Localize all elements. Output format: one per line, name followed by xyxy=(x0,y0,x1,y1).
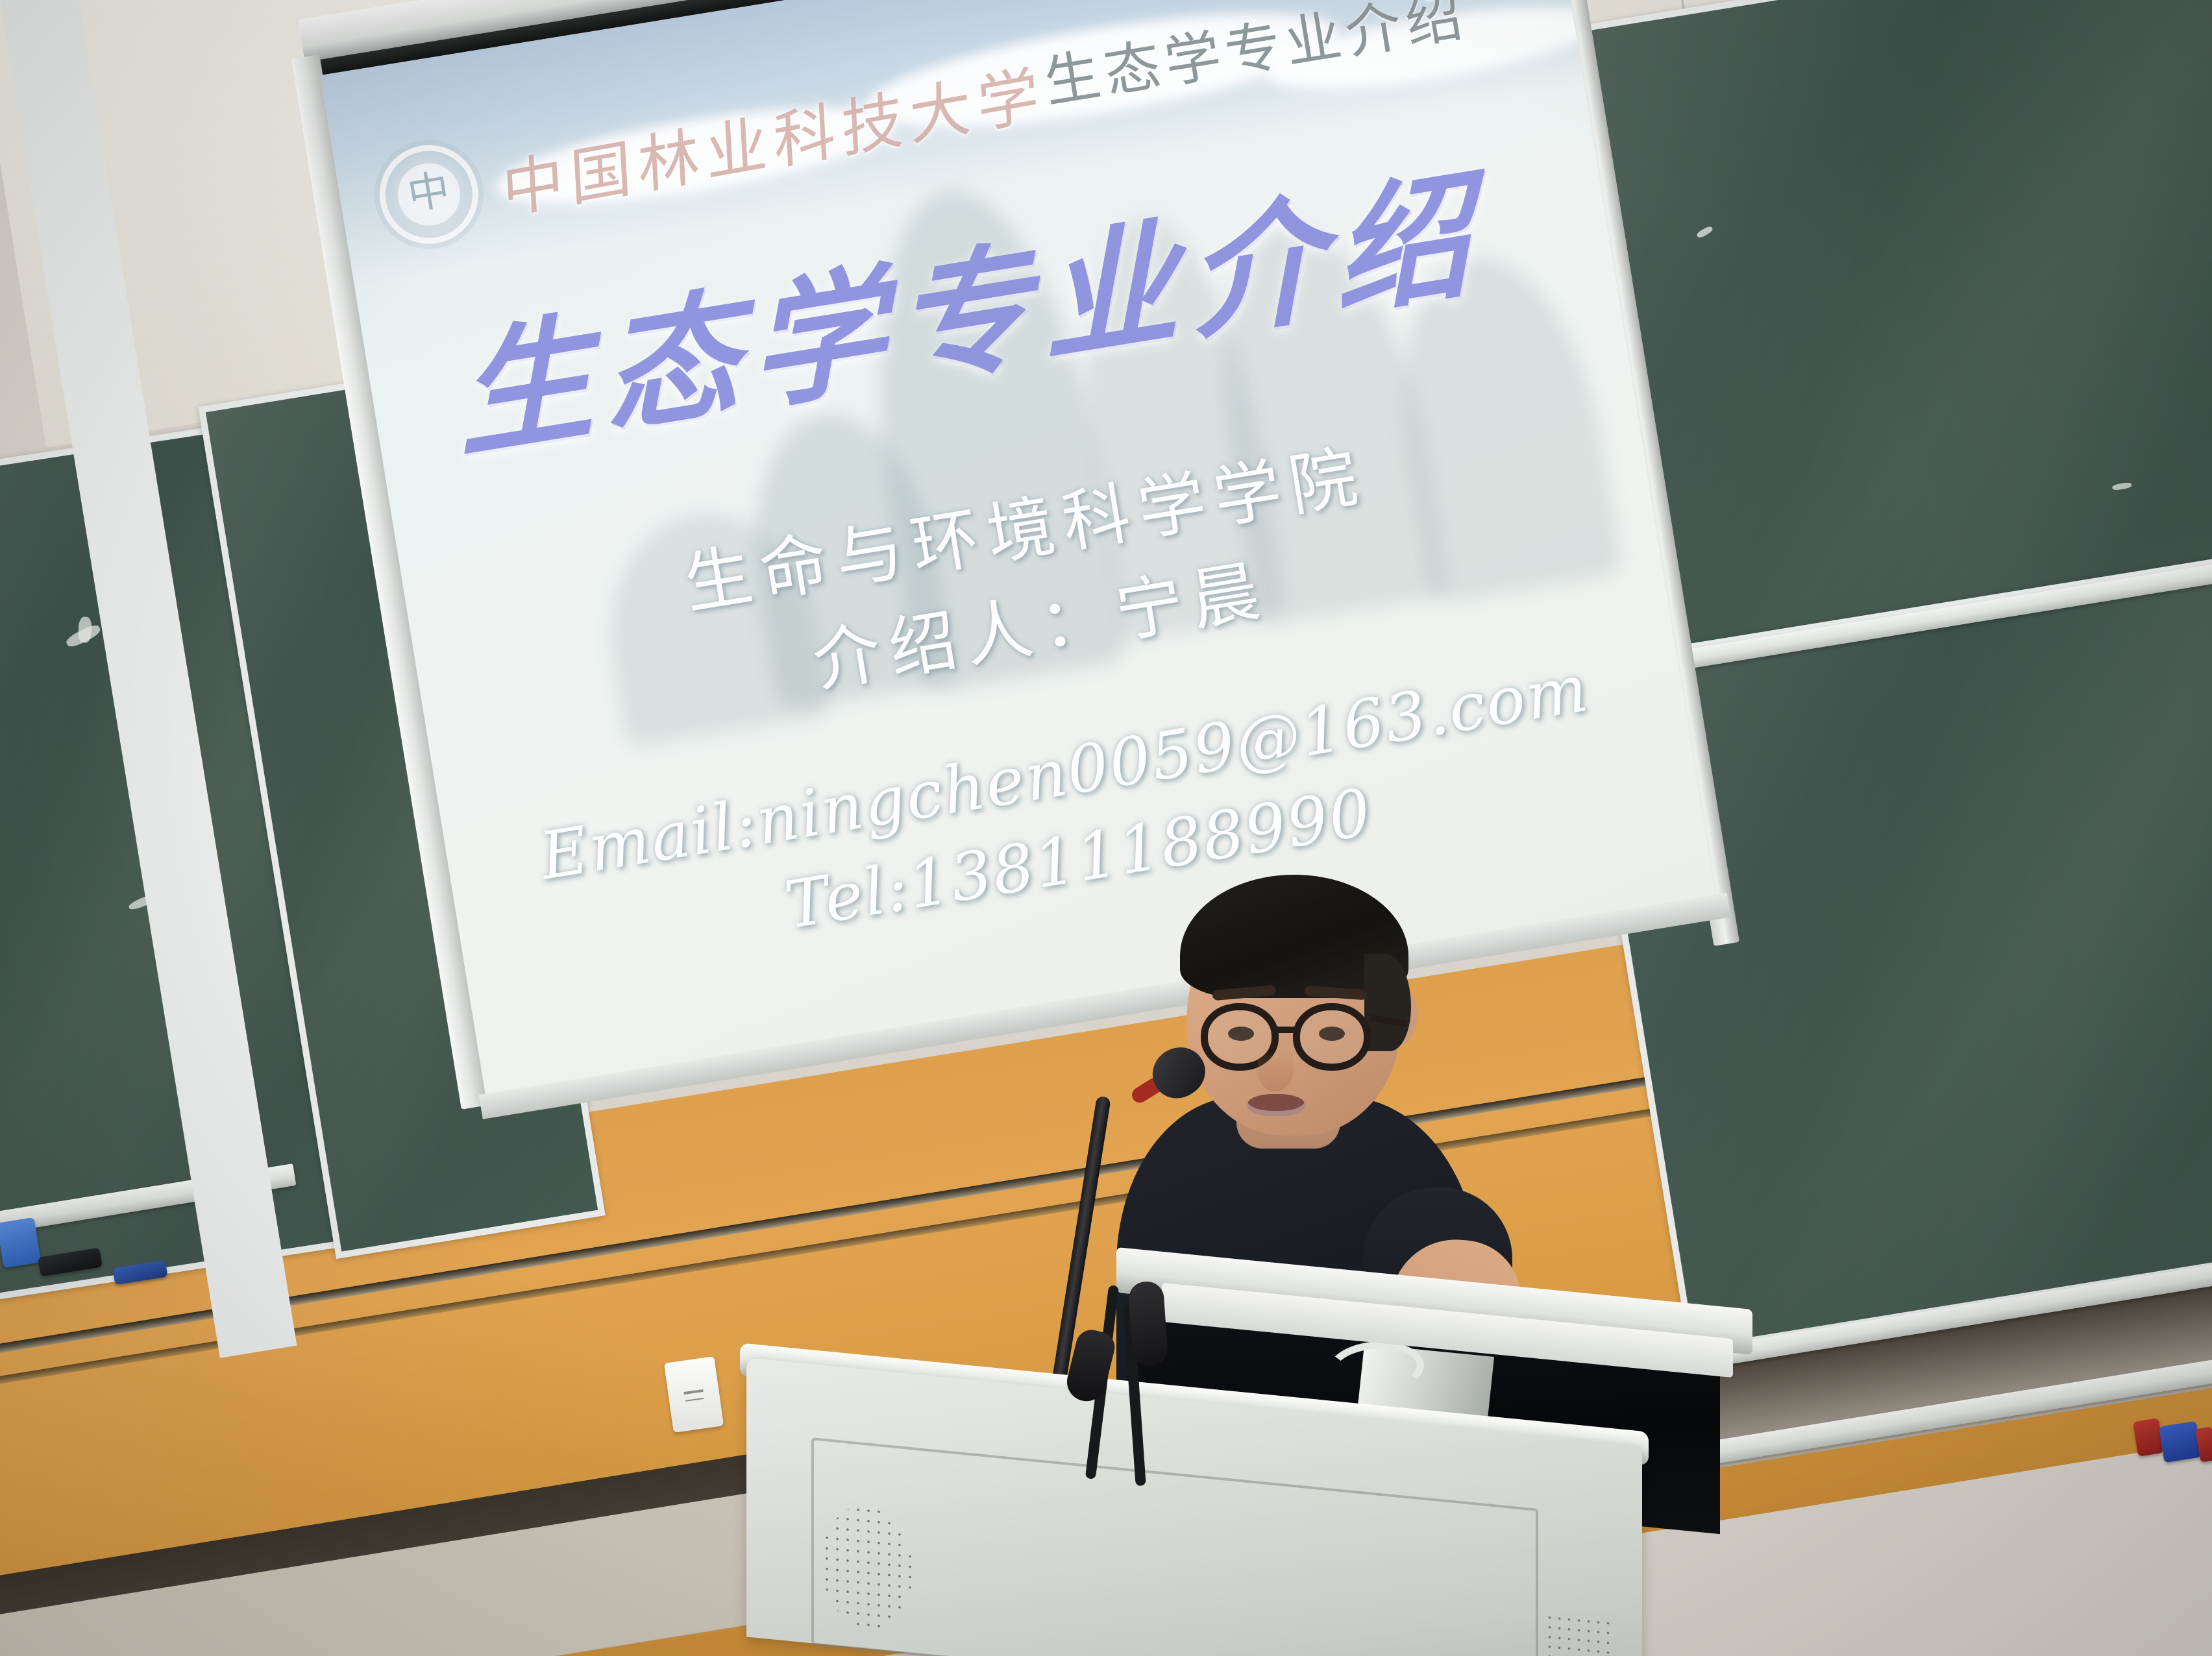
blue-container[interactable] xyxy=(0,1217,41,1268)
speaker-mouth xyxy=(1247,1094,1305,1116)
speaker-grille-icon-2 xyxy=(1545,1613,1616,1656)
glasses-bridge xyxy=(1277,1027,1298,1033)
red-chalk-box[interactable] xyxy=(2133,1418,2164,1457)
lectern[interactable] xyxy=(707,1311,1720,1656)
gooseneck-microphone-icon[interactable] xyxy=(1128,1280,1169,1367)
blue-chalk-box[interactable] xyxy=(2159,1421,2202,1463)
speaker-nose xyxy=(1258,1051,1293,1091)
lecture-hall-scene: 中 中国林业科技大学 生态学专业介绍 生态学专业介绍 生命与环境科学学院 介绍人… xyxy=(0,0,2212,1656)
seal-glyph: 中 xyxy=(405,169,452,216)
university-seal-icon: 中 xyxy=(373,138,485,250)
outlet-slot-icon xyxy=(683,1389,703,1394)
glasses-lens-right xyxy=(1293,1003,1371,1071)
